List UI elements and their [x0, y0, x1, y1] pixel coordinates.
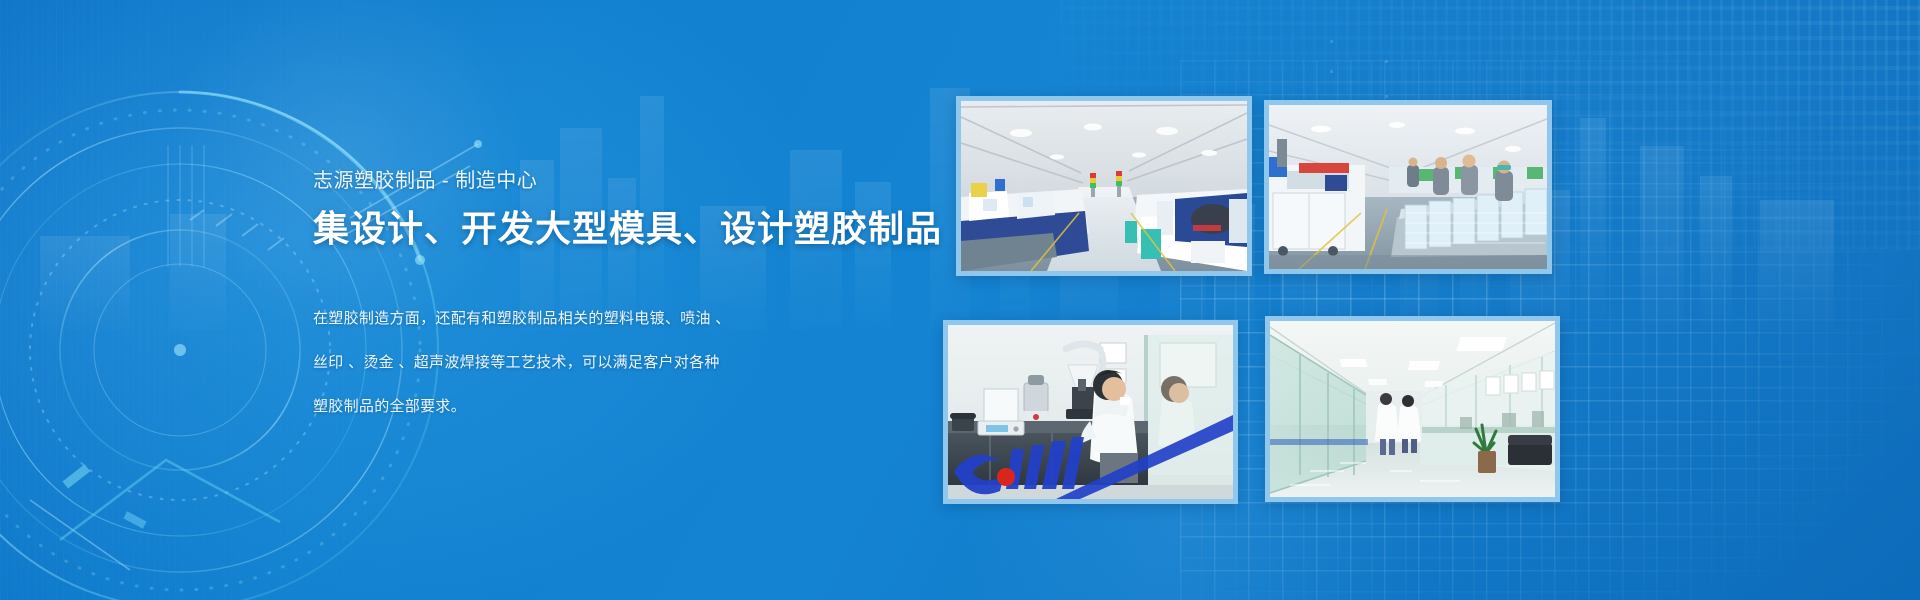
- hero-banner: 志源塑胶制品 - 制造中心 集设计、开发大型模具、设计塑胶制品 在塑胶制造方面，…: [0, 0, 1920, 600]
- photo-dust-free-clean-room: [1270, 321, 1555, 497]
- description-line-2: 丝印 、烫金 、超声波焊接等工艺技术，可以满足客户对各种: [313, 351, 953, 375]
- hero-description: 在塑胶制造方面，还配有和塑胶制品相关的塑料电镀、喷油 、 丝印 、烫金 、超声波…: [313, 307, 953, 419]
- photo-frame-injection-molding-workshop[interactable]: [956, 96, 1252, 276]
- hero-copy: 志源塑胶制品 - 制造中心 集设计、开发大型模具、设计塑胶制品 在塑胶制造方面，…: [313, 168, 953, 419]
- photo-frame-dust-free-clean-room[interactable]: [1265, 316, 1560, 502]
- description-line-3: 塑胶制品的全部要求。: [313, 395, 953, 419]
- photo-frame-assembly-production-line[interactable]: [1264, 100, 1552, 274]
- hero-eyebrow: 志源塑胶制品 - 制造中心: [313, 168, 953, 194]
- photo-injection-molding-workshop: [961, 101, 1247, 271]
- photo-collage: [943, 96, 1643, 506]
- photo-quality-inspection-lab: [948, 325, 1233, 499]
- description-line-1: 在塑胶制造方面，还配有和塑胶制品相关的塑料电镀、喷油 、: [313, 307, 953, 331]
- photo-assembly-production-line: [1269, 105, 1547, 269]
- photo-frame-quality-inspection-lab[interactable]: [943, 320, 1238, 504]
- hero-headline: 集设计、开发大型模具、设计塑胶制品: [313, 206, 953, 251]
